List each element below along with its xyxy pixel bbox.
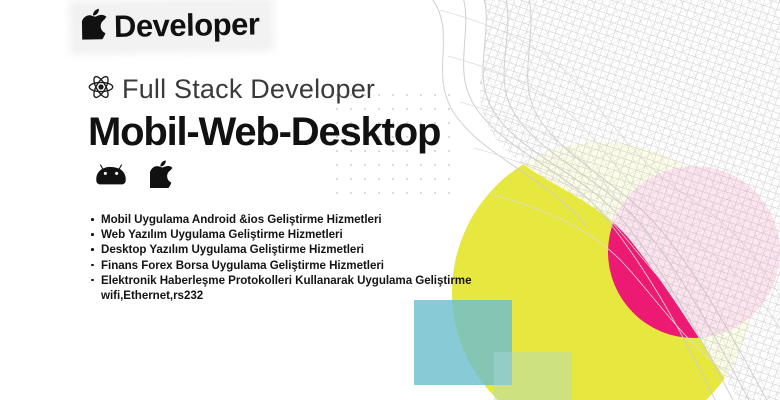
service-text: Desktop Yazılım Uygulama Geliştirme Hizm… — [101, 243, 364, 256]
apple-logo-icon — [150, 160, 174, 193]
service-text: Mobil Uygulama Android &ios Geliştirme H… — [101, 213, 382, 226]
android-robot-icon — [96, 163, 126, 190]
service-text: Elektronik Haberleşme Protokolleri Kulla… — [101, 274, 471, 287]
react-atom-icon — [88, 74, 114, 105]
list-item: Mobil Uygulama Android &ios Geliştirme H… — [90, 212, 590, 227]
list-item: Web Yazılım Uygulama Geliştirme Hizmetle… — [90, 227, 590, 242]
subtitle-row: Full Stack Developer — [88, 74, 375, 105]
services-list: Mobil Uygulama Android &ios Geliştirme H… — [90, 212, 590, 303]
service-text-continuation: wifi,Ethernet,rs232 — [101, 288, 590, 303]
service-text: Finans Forex Borsa Uygulama Geliştirme H… — [101, 259, 384, 272]
subtitle-text: Full Stack Developer — [122, 76, 375, 103]
list-item: Elektronik Haberleşme Protokolleri Kulla… — [90, 273, 590, 303]
list-item: Desktop Yazılım Uygulama Geliştirme Hizm… — [90, 242, 590, 257]
pink-circle-shape — [608, 166, 780, 338]
promo-banner: Developer Full Stack Developer Mobil-Web… — [0, 0, 780, 400]
apple-logo-icon — [82, 8, 109, 44]
teal-square-secondary-shape — [494, 352, 572, 400]
badge-label: Developer — [114, 8, 260, 42]
list-item: Finans Forex Borsa Uygulama Geliştirme H… — [90, 258, 590, 273]
platform-icons-row — [96, 160, 174, 193]
service-text: Web Yazılım Uygulama Geliştirme Hizmetle… — [101, 228, 343, 241]
apple-developer-badge: Developer — [74, 2, 270, 49]
page-title: Mobil-Web-Desktop — [88, 110, 440, 154]
